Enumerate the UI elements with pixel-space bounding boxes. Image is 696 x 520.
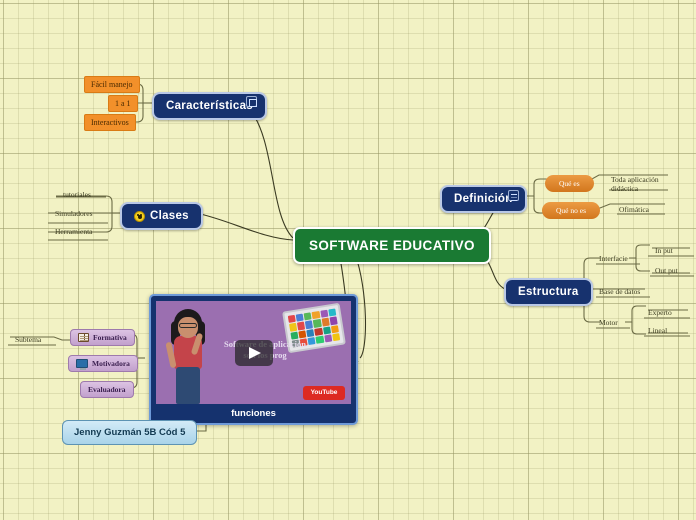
node-herramienta[interactable]: Herramienta (52, 226, 95, 237)
node-motivadora-label: Motivadora (92, 359, 130, 368)
node-que-es[interactable]: Qué es (545, 175, 594, 192)
node-out-put[interactable]: Out put (652, 265, 681, 276)
node-evaluadora-label: Evaluadora (88, 385, 126, 394)
branch-definicion-label: Definición (454, 193, 513, 205)
central-node[interactable]: SOFTWARE EDUCATIVO (293, 227, 491, 264)
node-experto[interactable]: Experto (645, 307, 675, 318)
node-que-no-es[interactable]: Qué no es (542, 202, 600, 219)
play-icon[interactable] (235, 340, 273, 366)
surprised-face-icon (134, 211, 145, 222)
node-motor[interactable]: Motor (596, 317, 621, 328)
branch-clases-label: Clases (150, 210, 189, 222)
node-toda-aplicacion-didactica[interactable]: Toda aplicación didáctica (608, 174, 670, 194)
branch-estructura[interactable]: Estructura (504, 278, 593, 306)
node-formativa[interactable]: Formativa (70, 329, 135, 346)
node-interfacie[interactable]: Interfacie (596, 253, 631, 264)
node-simuladores[interactable]: Simuladores (52, 208, 96, 219)
node-in-put[interactable]: In put (652, 245, 676, 256)
node-evaluadora[interactable]: Evaluadora (80, 381, 134, 398)
branch-estructura-label: Estructura (518, 286, 579, 298)
node-lineal[interactable]: Lineal (645, 325, 670, 336)
video-node[interactable]: Software de aplicación son los prog YouT… (149, 294, 358, 425)
node-interactivos[interactable]: Interactivos (84, 114, 136, 131)
branch-caracteristicas-label: Características (166, 100, 253, 112)
book-icon (78, 333, 89, 342)
node-1-a-1[interactable]: 1 a 1 (108, 95, 138, 112)
node-tutoriales[interactable]: tutoriales (60, 189, 94, 200)
node-motivadora[interactable]: Motivadora (68, 355, 138, 372)
list-square-icon[interactable] (508, 190, 519, 201)
video-thumbnail[interactable]: Software de aplicación son los prog YouT… (156, 301, 351, 404)
author-node[interactable]: Jenny Guzmán 5B Cód 5 (62, 420, 197, 445)
monitor-icon (76, 359, 88, 368)
mindmap-canvas[interactable]: SOFTWARE EDUCATIVO Características Fácil… (0, 0, 696, 520)
node-formativa-label: Formativa (93, 333, 127, 342)
node-subtema[interactable]: Subtema (12, 334, 44, 345)
woman-illustration (166, 309, 214, 404)
node-ofimatica[interactable]: Ofimática (616, 204, 652, 215)
link-square-icon[interactable] (246, 96, 257, 107)
youtube-logo: YouTube (303, 386, 345, 400)
branch-clases[interactable]: Clases (120, 202, 203, 230)
node-base-de-datos[interactable]: Base de datos (596, 286, 643, 297)
node-facil-manejo[interactable]: Fácil manejo (84, 76, 140, 93)
